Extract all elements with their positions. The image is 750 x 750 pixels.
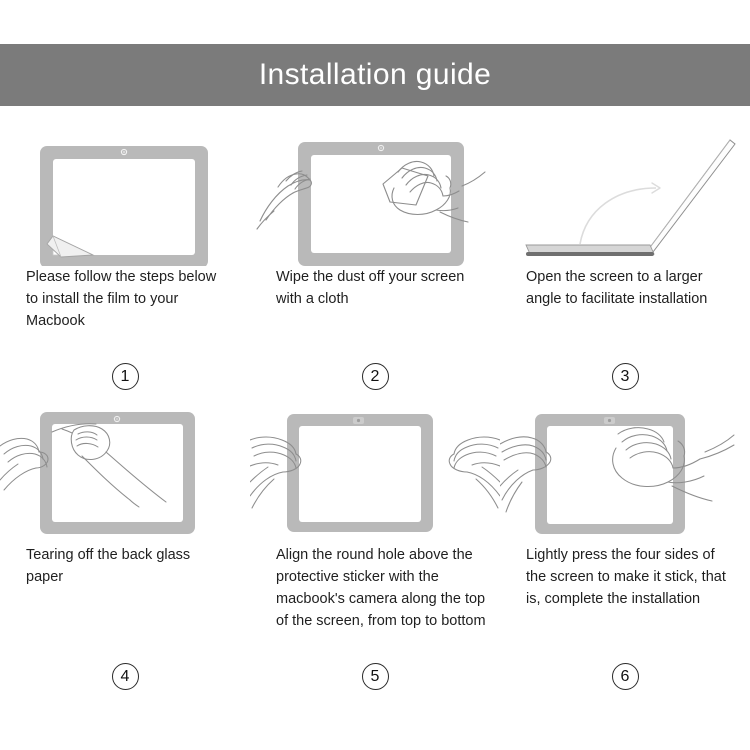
step-number-badge-2: 2	[362, 363, 389, 390]
step-badge-wrap-6: 6	[500, 663, 750, 704]
step-card-4: Tearing off the back glass paper 4	[0, 404, 250, 704]
illustration-hands-pressing-four-sides	[500, 404, 750, 544]
step-number-badge-6: 6	[612, 663, 639, 690]
installation-steps-grid: Please follow the steps below to install…	[0, 126, 750, 704]
step-card-1: Please follow the steps below to install…	[0, 126, 250, 404]
step-number-badge-5: 5	[362, 663, 389, 690]
step-caption-4: Tearing off the back glass paper	[26, 544, 230, 588]
illustration-hand-tearing-back-paper	[0, 404, 250, 544]
illustration-hands-wiping-screen-with-cloth	[250, 126, 500, 266]
steps-row-bottom: Tearing off the back glass paper 4	[0, 404, 750, 704]
step-caption-6: Lightly press the four sides of the scre…	[526, 544, 738, 610]
step-card-5: Align the round hole above the protectiv…	[250, 404, 500, 704]
step-badge-wrap-2: 2	[250, 363, 500, 404]
step-caption-1: Please follow the steps below to install…	[26, 266, 230, 332]
page-title: Installation guide	[259, 60, 491, 90]
step-card-6: Lightly press the four sides of the scre…	[500, 404, 750, 704]
step-number-badge-1: 1	[112, 363, 139, 390]
steps-row-top: Please follow the steps below to install…	[0, 126, 750, 404]
step-caption-2: Wipe the dust off your screen with a clo…	[276, 266, 480, 310]
illustration-laptop-side-view-open-angle	[500, 126, 750, 266]
step-badge-wrap-3: 3	[500, 363, 750, 404]
illustration-screen-with-peeling-film-corner	[0, 126, 250, 266]
step-badge-wrap-4: 4	[0, 663, 250, 704]
step-number-badge-3: 3	[612, 363, 639, 390]
step-caption-5: Align the round hole above the protectiv…	[276, 544, 488, 632]
step-badge-wrap-5: 5	[250, 663, 500, 704]
step-card-2: Wipe the dust off your screen with a clo…	[250, 126, 500, 404]
step-card-3: Open the screen to a larger angle to fac…	[500, 126, 750, 404]
header-bar: Installation guide	[0, 44, 750, 106]
step-number-badge-4: 4	[112, 663, 139, 690]
step-caption-3: Open the screen to a larger angle to fac…	[526, 266, 730, 310]
step-badge-wrap-1: 1	[0, 363, 250, 404]
illustration-two-hands-aligning-film	[250, 404, 500, 544]
